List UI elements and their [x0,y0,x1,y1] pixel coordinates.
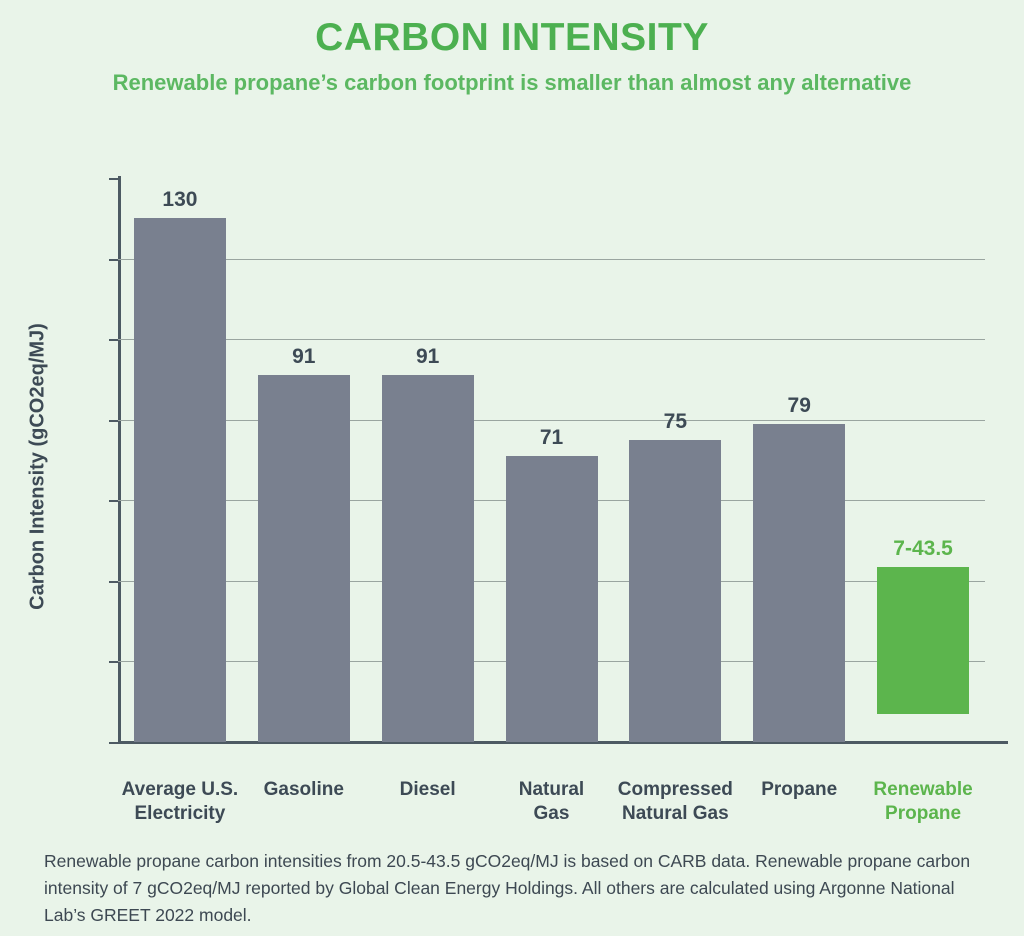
y-axis-tick [109,500,118,502]
y-axis-tick [109,661,118,663]
page-subtitle: Renewable propane’s carbon footprint is … [0,71,1024,95]
bar-value-label: 7-43.5 [893,537,953,561]
x-axis-category-line: Renewable [849,778,997,802]
bar: 7-43.5 [877,567,969,714]
plot-area: 020406080100120140130Average U.S.Electri… [118,178,985,742]
bar: 91 [382,375,474,742]
bar: 71 [506,456,598,742]
y-axis-tick [109,178,118,180]
footnote: Renewable propane carbon intensities fro… [44,848,984,929]
x-axis-category-label: RenewablePropane [849,778,997,826]
x-axis-category-line: Natural Gas [601,802,749,826]
bar: 79 [753,424,845,742]
chart-header: CARBON INTENSITY Renewable propane’s car… [0,0,1024,95]
gridline [118,259,985,260]
gridline [118,339,985,340]
bar-value-label: 130 [162,188,197,212]
y-axis-title: Carbon Intensity (gCO2eq/MJ) [27,167,50,767]
bar-value-label: 71 [540,426,563,450]
x-axis-category-line: Electricity [106,802,254,826]
bar-value-label: 91 [416,345,439,369]
gridline [118,420,985,421]
page-title: CARBON INTENSITY [0,18,1024,59]
bar-value-label: 91 [292,345,315,369]
bar: 75 [629,440,721,742]
x-axis-category-line: Propane [849,802,997,826]
bar-value-label: 75 [664,410,687,434]
bar-value-label: 79 [788,394,811,418]
chart-container: Carbon Intensity (gCO2eq/MJ) 02040608010… [0,150,1024,830]
y-axis-tick [109,339,118,341]
y-axis-tick [109,420,118,422]
y-axis-tick [109,259,118,261]
bar: 130 [134,218,226,742]
y-axis-tick [109,581,118,583]
y-axis-tick [109,742,118,744]
bar: 91 [258,375,350,742]
